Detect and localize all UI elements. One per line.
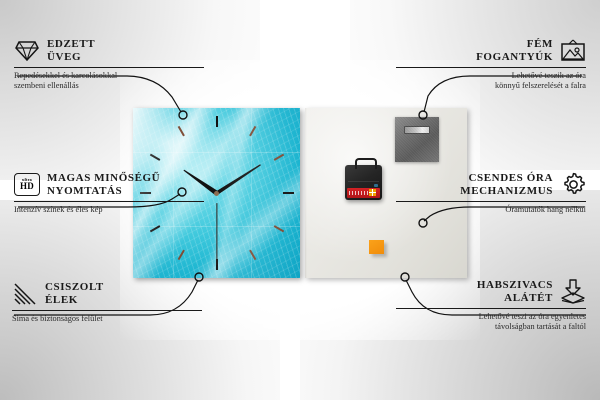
clock-mechanism [345,165,382,200]
callout-description: Lehetővé teszik az óra könnyű felszerelé… [396,71,586,92]
callout-header: FÉM FOGANTYÚK [396,38,586,63]
callout-title-line2: NYOMTATÁS [47,185,122,197]
callout-divider [12,310,202,311]
callout-silent-mechanism: CSENDES ÓRA MECHANIZMUS Óramutatók hang … [396,172,586,215]
callout-title: EDZETT ÜVEG [47,38,95,63]
diamond-icon [14,39,40,63]
picture-frame-icon [560,39,586,63]
callout-title-line2: MECHANIZMUS [460,185,553,197]
callout-description: Repedésekkel és karcolásokkal szembeni e… [14,71,204,92]
callout-desc-line1: Sima és biztonságos felület [12,314,103,323]
callout-title-line1: MAGAS MINŐSÉGŰ [47,172,160,184]
battery-label [347,188,380,198]
metal-hanger [395,117,439,162]
callout-divider [396,201,586,202]
callout-title: CSENDES ÓRA MECHANIZMUS [460,172,553,197]
callout-title: FÉM FOGANTYÚK [476,38,553,63]
callout-tempered-glass: EDZETT ÜVEG Repedésekkel és karcolásokka… [14,38,204,92]
gear-icon [560,173,586,197]
callout-header: HABSZIVACS ALÁTÉT [396,279,586,304]
ultra-hd-icon: ultra HD [14,173,40,197]
stack-down-arrow-icon [560,280,586,304]
callout-title-line2: FOGANTYÚK [476,51,553,63]
callout-header: ultra HD MAGAS MINŐSÉGŰ NYOMTATÁS [14,172,204,197]
callout-desc-line1: Lehetővé teszi az óra egyenletes [479,312,586,321]
callout-title-line2: ALÁTÉT [504,292,553,304]
hanger-slot [404,126,430,134]
callout-title-line1: CSISZOLT [45,281,104,293]
callout-title-line1: CSENDES ÓRA [468,172,553,184]
callout-metal-handles: FÉM FOGANTYÚK Lehetővé teszik az óra kön… [396,38,586,92]
callout-desc-line1: Repedésekkel és karcolásokkal [14,71,117,80]
callout-description: Óramutatók hang nélkül [396,205,586,215]
callout-header: EDZETT ÜVEG [14,38,204,63]
callout-desc-line1: Intenzív színek és éles kép [14,205,102,214]
callout-divider [14,201,204,202]
callout-divider [396,308,586,309]
callout-desc-line1: Óramutatók hang nélkül [505,205,586,214]
callout-title-line1: FÉM [527,38,553,50]
callout-header: CSENDES ÓRA MECHANIZMUS [396,172,586,197]
mechanism-seam [348,181,379,182]
foam-pad [369,240,384,254]
mechanism-handle [355,158,377,169]
callout-high-quality-print: ultra HD MAGAS MINŐSÉGŰ NYOMTATÁS Intenz… [14,172,204,215]
mechanism-indicator [374,184,378,187]
callout-title: HABSZIVACS ALÁTÉT [477,279,553,304]
callout-divider [14,67,204,68]
callout-foam-spacer: HABSZIVACS ALÁTÉT Lehetővé teszi az óra … [396,279,586,333]
callout-title-line1: HABSZIVACS [477,279,553,291]
callout-title-line1: EDZETT [47,38,95,50]
callout-desc-line2: könnyű felszerelését a falra [495,81,586,90]
callout-desc-line2: szembeni ellenállás [14,81,79,90]
callout-desc-line1: Lehetővé teszik az óra [512,71,586,80]
callout-description: Lehetővé teszi az óra egyenletes távolsá… [396,312,586,333]
callout-title: CSISZOLT ÉLEK [45,281,104,306]
callout-title-line2: ÜVEG [47,51,81,63]
infographic-canvas: EDZETT ÜVEG Repedésekkel és karcolásokka… [0,0,600,400]
callout-title: MAGAS MINŐSÉGŰ NYOMTATÁS [47,172,160,197]
callout-polished-edges: CSISZOLT ÉLEK Sima és biztonságos felüle… [12,281,202,324]
callout-desc-line2: távolságban tartását a faltól [495,322,586,331]
callout-description: Intenzív színek és éles kép [14,205,204,215]
hatch-lines-icon [12,282,38,306]
callout-description: Sima és biztonságos felület [12,314,202,324]
callout-header: CSISZOLT ÉLEK [12,281,202,306]
callout-divider [396,67,586,68]
battery-plus-marker [369,189,376,196]
callout-title-line2: ÉLEK [45,294,78,306]
ultra-hd-icon-main-text: HD [20,182,34,191]
